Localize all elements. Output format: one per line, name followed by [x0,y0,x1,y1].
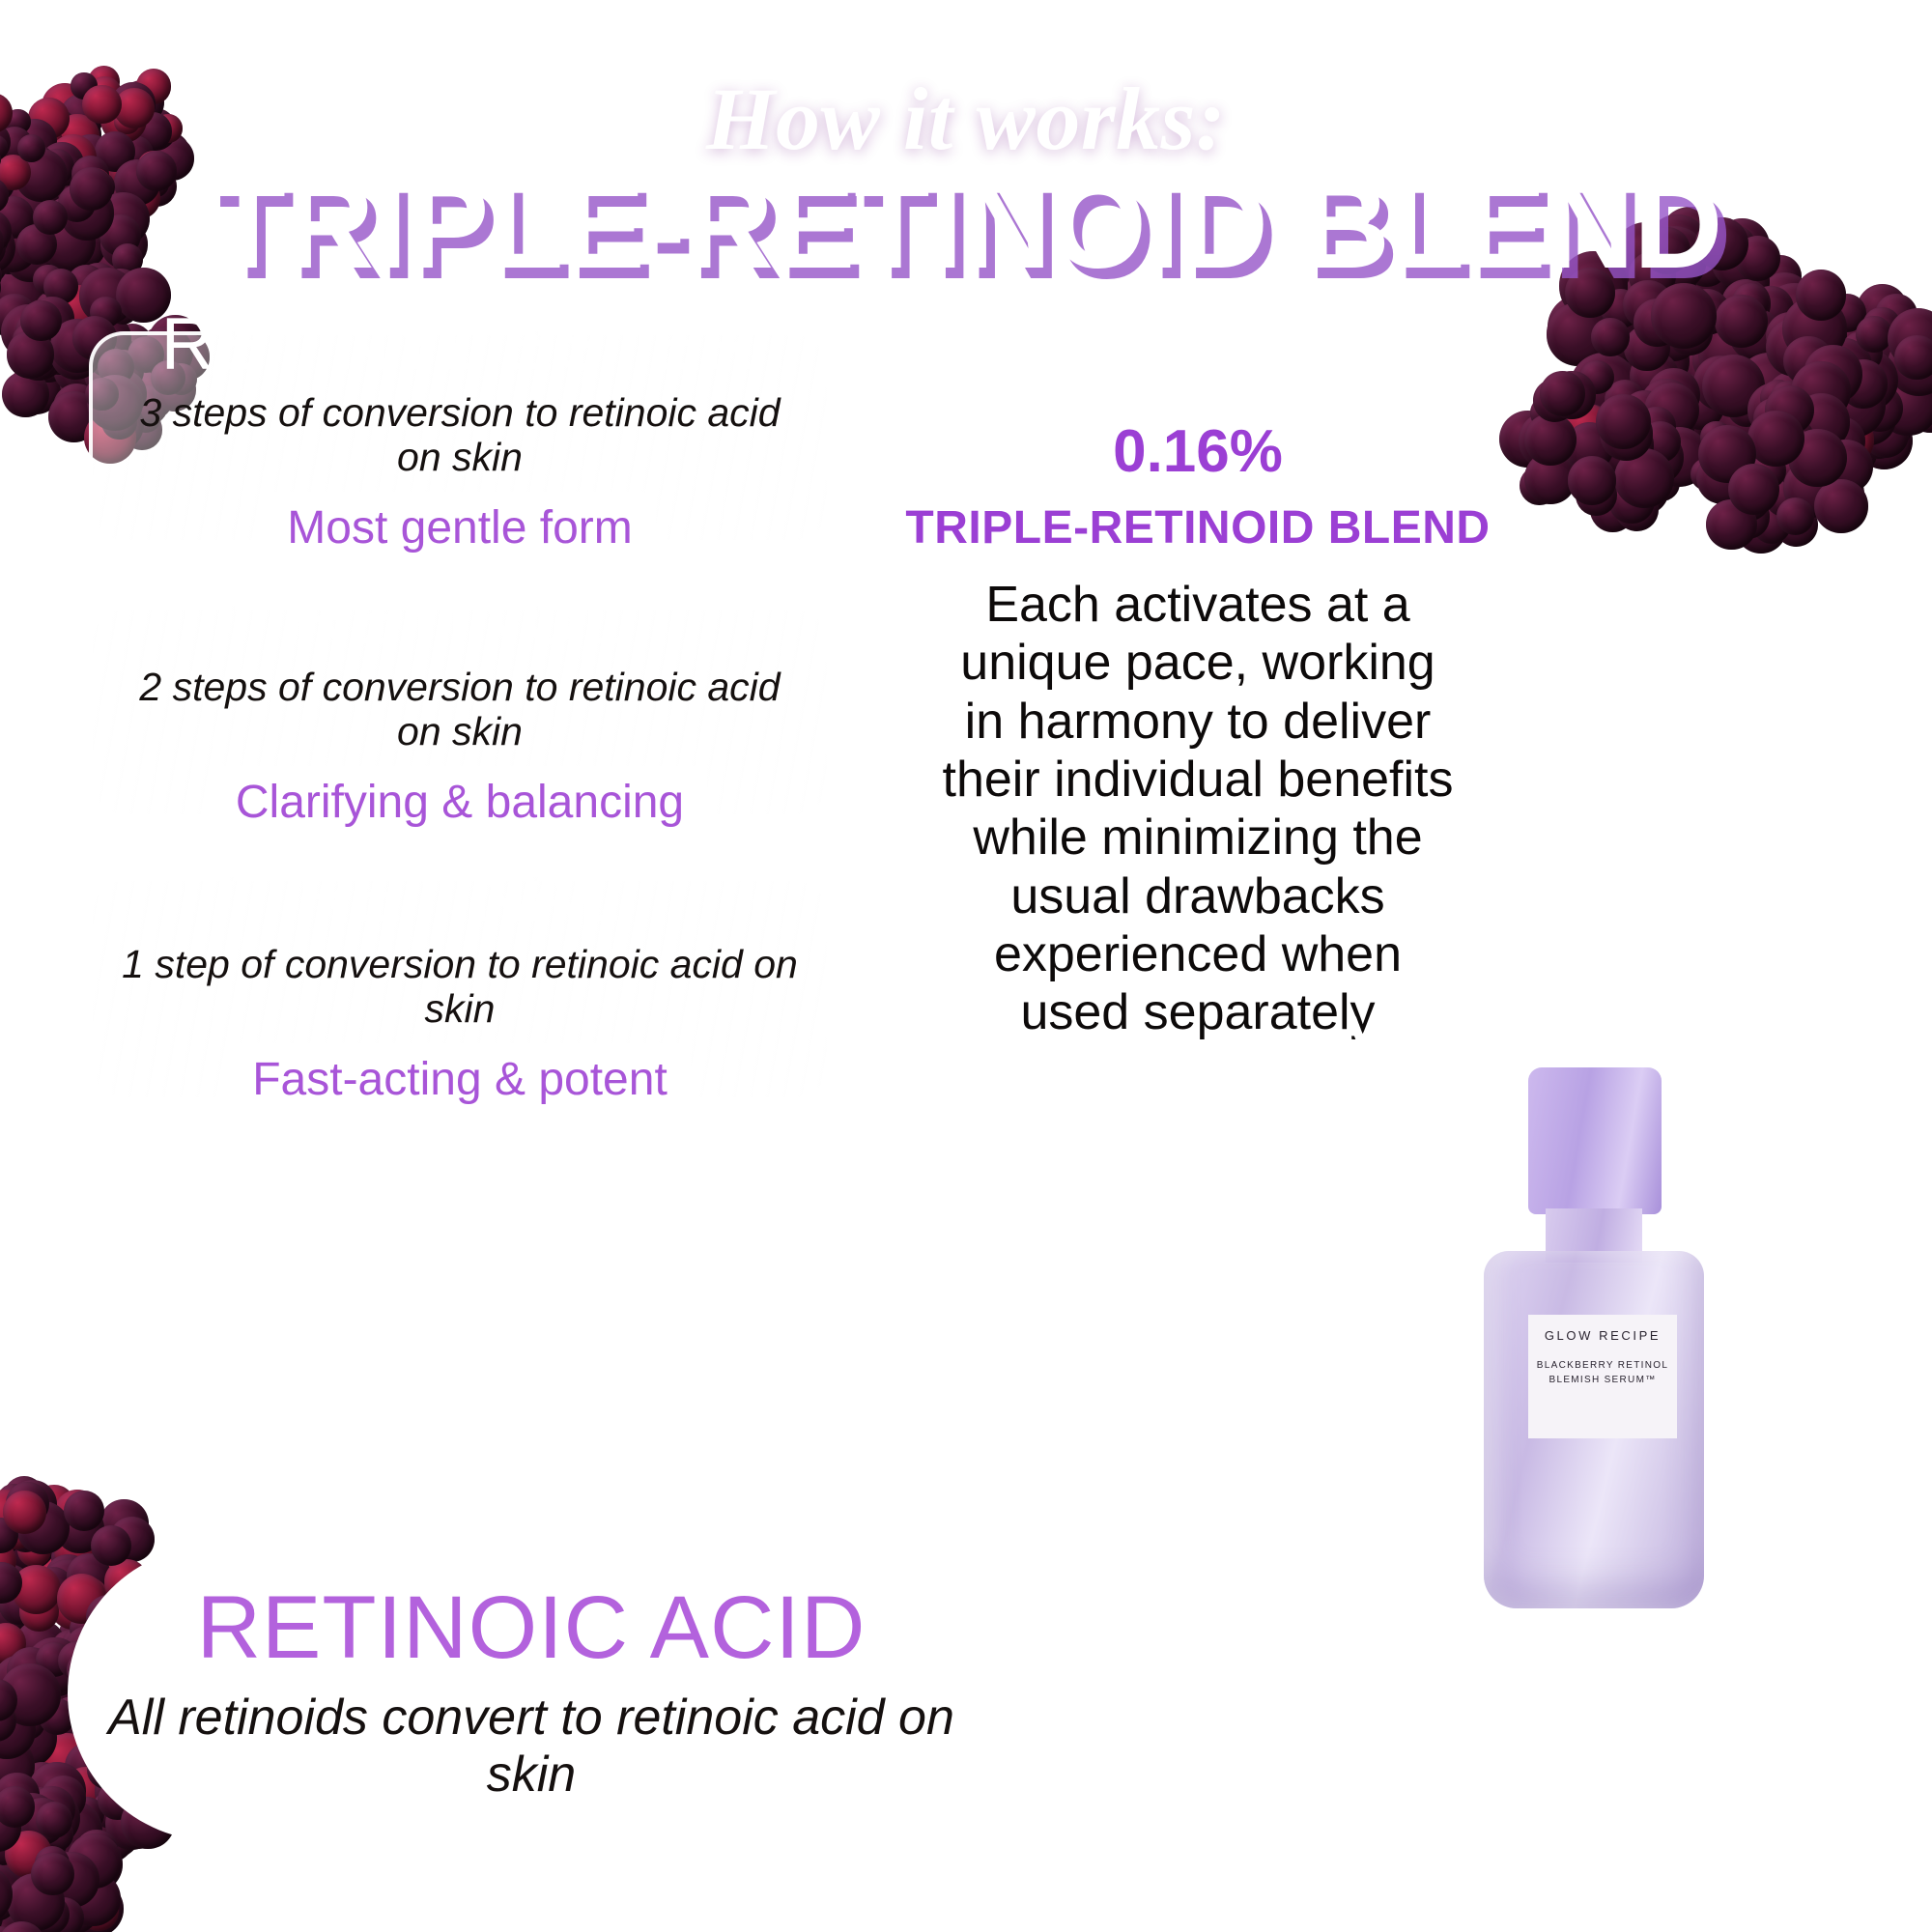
step-card-retinyl-ester: RETINYL ESTER 3 steps of conversion to r… [89,331,831,544]
result-card-retinoic-acid: RETINOIC ACID All retinoids convert to r… [68,1546,995,1841]
step-card-retinal: RETINAL 1 step of conversion to retinoic… [89,877,831,1101]
step-subtitle: 3 steps of conversion to retinoic acid o… [120,391,800,480]
step-subtitle: 2 steps of conversion to retinoic acid o… [120,666,800,754]
connector-line-card2 [831,742,891,747]
bottle-label: GLOW RECIPE BLACKBERRY RETINOL BLEMISH S… [1528,1315,1677,1438]
blend-info-content: 0.16% TRIPLE-RETINOID BLEND Each activat… [927,411,1468,1042]
infographic-canvas: How it works: TRIPLE-RETINOID BLEND RETI… [0,0,1932,1932]
step-card-retinol: RETINOL 2 steps of conversion to retinoi… [89,606,831,818]
step-badge: Fast-acting & potent [229,1043,691,1121]
footer-disclaimer: Retinoic acid is available by prescripti… [1053,1599,1835,1809]
step-subtitle: 1 step of conversion to retinoic acid on… [120,943,800,1032]
bottle-product-name: BLACKBERRY RETINOL BLEMISH SERUM™ [1537,1358,1668,1387]
blend-name-badge: TRIPLE-RETINOID BLEND [888,494,1507,566]
bottle-brand-name: GLOW RECIPE [1545,1328,1661,1343]
step-badge: Most gentle form [264,492,655,569]
bottle-product-line-2: BLEMISH SERUM™ [1549,1375,1657,1385]
result-subtitle: All retinoids convert to retinoic acid o… [68,1690,995,1804]
connector-line-card3 [831,916,893,921]
bottle-product-line-1: BLACKBERRY RETINOL [1537,1360,1668,1371]
blend-description: Each activates at a unique pace, working… [937,576,1459,1042]
blend-percentage-badge: 0.16% [1088,411,1308,497]
bottle-cap [1528,1067,1662,1214]
connector-line-card1 [831,566,893,571]
step-title: RETINAL [298,858,622,936]
step-title: RETINYL ESTER [161,306,759,384]
result-title: RETINOIC ACID [197,1583,867,1672]
product-bottle: GLOW RECIPE BLACKBERRY RETINOL BLEMISH S… [1468,1067,1719,1608]
step-badge: Clarifying & balancing [213,766,707,843]
page-title: TRIPLE-RETINOID BLEND [0,155,1932,297]
step-title: RETINOL [294,581,625,659]
arrow-down-icon [541,1101,618,1555]
